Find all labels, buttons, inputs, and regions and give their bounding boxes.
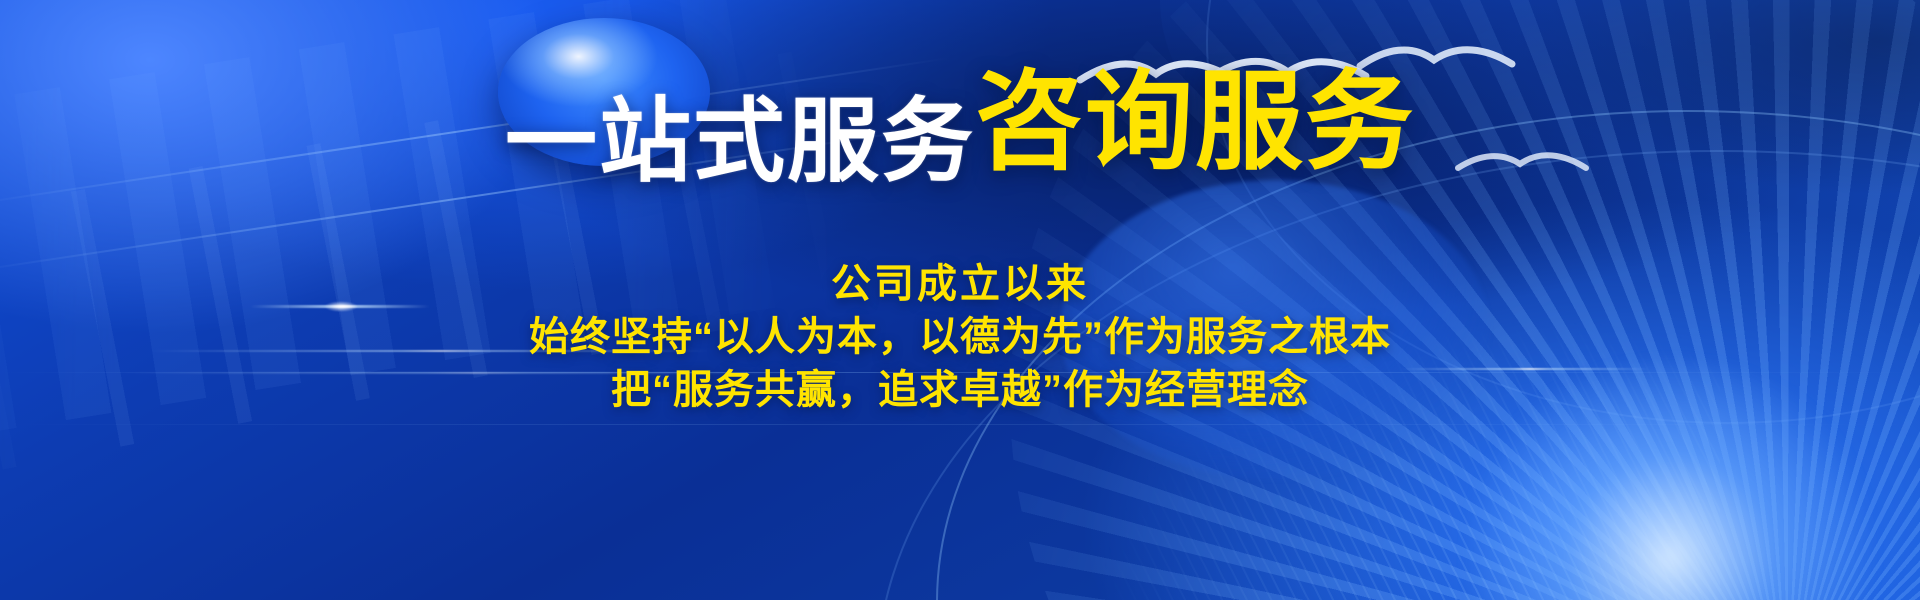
subtitle-line-2: 始终坚持“以人为本，以德为先”作为服务之根本 xyxy=(0,311,1920,364)
headline-white-text: 一站式服务 xyxy=(505,91,975,193)
subtitle-block: 公司成立以来 始终坚持“以人为本，以德为先”作为服务之根本 把“服务共赢，追求卓… xyxy=(0,258,1920,418)
page-title: 一站式服务咨询服务 xyxy=(0,82,1920,190)
subtitle-line-3: 把“服务共赢，追求卓越”作为经营理念 xyxy=(0,364,1920,417)
promo-banner: 一站式服务咨询服务 公司成立以来 始终坚持“以人为本，以德为先”作为服务之根本 … xyxy=(0,0,1920,600)
horizon-line-lower xyxy=(0,424,1920,425)
subtitle-line-1: 公司成立以来 xyxy=(0,258,1920,311)
headline-yellow-text: 咨询服务 xyxy=(975,61,1415,182)
